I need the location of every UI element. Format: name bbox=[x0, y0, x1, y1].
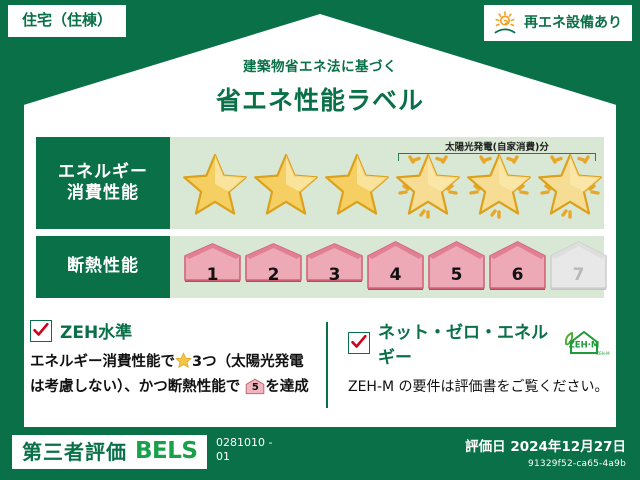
evaluation-info: 評価日 2024年12月27日 91329f52-ca65-4a9b bbox=[465, 435, 626, 469]
svg-text:ZEH·M: ZEH·M bbox=[569, 341, 600, 351]
house-level-on: 5 bbox=[426, 236, 487, 292]
house-level-on: 6 bbox=[487, 236, 548, 292]
title-block: 建築物省エネ法に基づく 省エネ性能ラベル bbox=[0, 55, 640, 117]
page-title: 省エネ性能ラベル bbox=[0, 81, 640, 117]
footer: 第三者評価 BELS 0281010 - 01 評価日 2024年12月27日 … bbox=[0, 427, 640, 480]
house-scale: 1 2 3 4 5 6 7 bbox=[170, 236, 604, 298]
house-level-number: 3 bbox=[304, 265, 365, 285]
net-zero-head: ネット・ゼロ・エネルギー ZEH·M ZEH-M bbox=[348, 318, 610, 368]
zeh-standard-title: ZEH水準 bbox=[60, 318, 132, 343]
house-level-on: 4 bbox=[365, 236, 426, 292]
house-level-on: 3 bbox=[304, 236, 365, 292]
building-type-label: 住宅（住棟） bbox=[22, 11, 112, 29]
star-solar bbox=[393, 146, 462, 220]
inline-star-icon bbox=[175, 352, 192, 377]
star-filled bbox=[322, 146, 391, 220]
house-level-number: 7 bbox=[548, 265, 609, 285]
energy-label-line2: 消費性能 bbox=[67, 183, 139, 204]
star-filled bbox=[180, 146, 249, 220]
star-solar bbox=[464, 146, 533, 220]
star-solar bbox=[535, 146, 604, 220]
net-zero-checkbox[interactable] bbox=[348, 332, 370, 354]
house-level-number: 4 bbox=[365, 265, 426, 285]
house-level-number: 5 bbox=[426, 265, 487, 285]
evaluation-hash: 91329f52-ca65-4a9b bbox=[465, 459, 626, 469]
zeh-body-star-count: 3つ（太陽光発電 bbox=[192, 354, 304, 370]
house-level-off: 7 bbox=[548, 236, 609, 292]
svg-text:ZEH-M: ZEH-M bbox=[596, 351, 610, 356]
evaluation-date: 評価日 2024年12月27日 bbox=[465, 435, 626, 455]
renewable-equipment-badge: 再エネ設備あり bbox=[484, 5, 632, 41]
inline-house-icon: 5 bbox=[245, 378, 265, 395]
net-zero-energy-statement: ネット・ゼロ・エネルギー ZEH·M ZEH-M ZEH-M の要件は評価書をご… bbox=[322, 318, 610, 414]
zeh-standard-body: エネルギー消費性能で3つ（太陽光発電 は考慮しない）、かつ断熱性能で 5 を達成 bbox=[30, 352, 322, 399]
energy-label-line1: エネルギー bbox=[58, 162, 148, 183]
energy-performance-row: エネルギー 消費性能 太陽光発電(自家消費)分 bbox=[36, 137, 604, 229]
house-level-on: 2 bbox=[243, 236, 304, 292]
zeh-m-logo: ZEH·M ZEH-M bbox=[560, 328, 610, 358]
sun-icon bbox=[492, 11, 518, 35]
insulation-label-line1: 断熱性能 bbox=[67, 256, 139, 277]
statements-block: ZEH水準 エネルギー消費性能で3つ（太陽光発電 は考慮しない）、かつ断熱性能で… bbox=[30, 318, 610, 414]
label-frame: 住宅（住棟） 再エネ設備あり 建築物省エネ法に基づく bbox=[0, 0, 640, 480]
star-rating bbox=[170, 137, 604, 229]
bels-logo-text: BELS bbox=[135, 440, 197, 463]
house-level-on: 1 bbox=[182, 236, 243, 292]
house-level-number: 1 bbox=[182, 265, 243, 285]
zeh-standard-head: ZEH水準 bbox=[30, 318, 322, 343]
subtitle: 建築物省エネ法に基づく bbox=[0, 55, 640, 75]
building-type-badge: 住宅（住棟） bbox=[8, 5, 126, 37]
zeh-standard-checkbox[interactable] bbox=[30, 320, 52, 342]
inline-house-number: 5 bbox=[245, 380, 265, 395]
house-level-number: 2 bbox=[243, 265, 304, 285]
zeh-body-part1: エネルギー消費性能で bbox=[30, 354, 175, 370]
zeh-standard-statement: ZEH水準 エネルギー消費性能で3つ（太陽光発電 は考慮しない）、かつ断熱性能で… bbox=[30, 318, 322, 414]
third-party-eval-label: 第三者評価 bbox=[22, 442, 127, 462]
net-zero-title: ネット・ゼロ・エネルギー bbox=[378, 318, 550, 368]
insulation-rating-body: 1 2 3 4 5 6 7 bbox=[170, 236, 604, 298]
insulation-performance-label: 断熱性能 bbox=[36, 236, 170, 298]
bels-number: 0281010 - 01 bbox=[216, 436, 286, 464]
zeh-body-part2: は考慮しない）、かつ断熱性能で bbox=[30, 379, 240, 395]
energy-performance-label: エネルギー 消費性能 bbox=[36, 137, 170, 229]
house-level-number: 6 bbox=[487, 265, 548, 285]
energy-rating-body: 太陽光発電(自家消費)分 bbox=[170, 137, 604, 229]
star-filled bbox=[251, 146, 320, 220]
bels-badge: 第三者評価 BELS bbox=[12, 435, 207, 469]
insulation-performance-row: 断熱性能 1 2 3 4 5 bbox=[36, 236, 604, 298]
net-zero-body: ZEH-M の要件は評価書をご覧ください。 bbox=[348, 377, 610, 398]
zeh-body-part3: を達成 bbox=[265, 379, 309, 395]
renewable-label: 再エネ設備あり bbox=[524, 16, 622, 30]
